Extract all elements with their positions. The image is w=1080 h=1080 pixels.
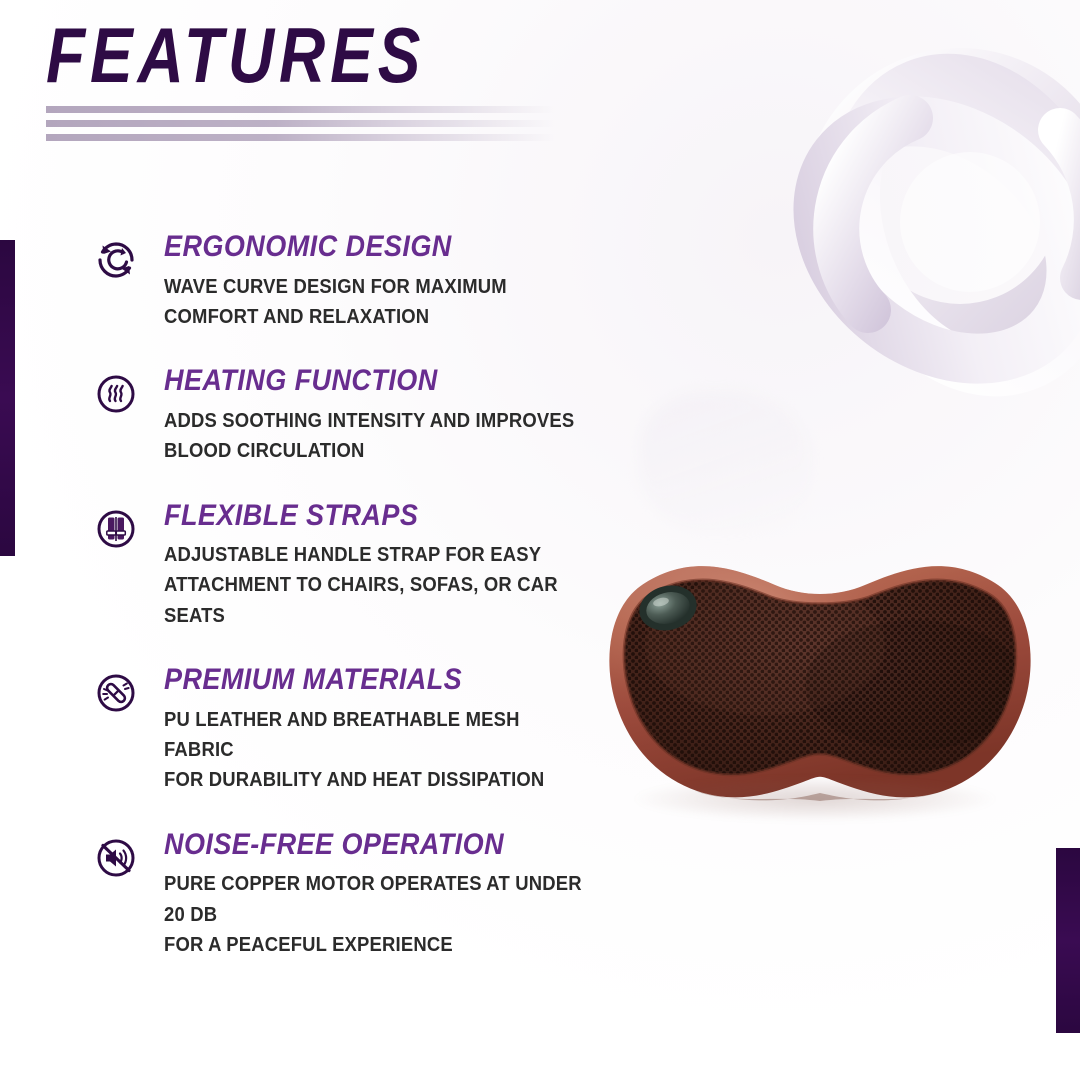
feature-item: FLEXIBLE STRAPS ADJUSTABLE HANDLE STRAP …	[92, 501, 637, 632]
feature-description: ADDS SOOTHING INTENSITY AND IMPROVES BLO…	[164, 406, 590, 467]
right-accent-bar	[1056, 848, 1080, 1033]
title-underline-rules	[46, 106, 556, 141]
rule-line-3	[46, 134, 556, 141]
feature-list: ERGONOMIC DESIGN WAVE CURVE DESIGN FOR M…	[92, 232, 637, 994]
left-accent-bar	[0, 240, 15, 556]
straps-buckle-circle-icon	[92, 505, 140, 553]
product-drop-shadow	[635, 777, 995, 821]
rotate-arrows-icon	[92, 236, 140, 284]
abstract-torus-knot-decoration	[760, 10, 1080, 440]
product-image-shiatsu-massage-pillow	[575, 505, 1065, 855]
feature-description: PURE COPPER MOTOR OPERATES AT UNDER 20 D…	[164, 869, 590, 960]
feature-title: FLEXIBLE STRAPS	[164, 501, 590, 532]
feature-item: NOISE-FREE OPERATION PURE COPPER MOTOR O…	[92, 830, 637, 961]
rule-line-1	[46, 106, 556, 113]
feature-title: NOISE-FREE OPERATION	[164, 830, 590, 861]
feature-title: ERGONOMIC DESIGN	[164, 232, 590, 263]
muted-speaker-icon	[92, 834, 140, 882]
feature-description: PU LEATHER AND BREATHABLE MESH FABRIC FO…	[164, 705, 590, 796]
heat-waves-circle-icon	[92, 370, 140, 418]
bandage-circle-icon	[92, 669, 140, 717]
feature-description: ADJUSTABLE HANDLE STRAP FOR EASY ATTACHM…	[164, 540, 590, 631]
rule-line-2	[46, 120, 556, 127]
feature-title: HEATING FUNCTION	[164, 366, 590, 397]
infographic-canvas: FEATURES ERGONOM	[0, 0, 1080, 1080]
feature-item: HEATING FUNCTION ADDS SOOTHING INTENSITY…	[92, 366, 637, 466]
title-block: FEATURES	[46, 18, 646, 148]
page-title: FEATURES	[46, 18, 538, 92]
feature-item: PREMIUM MATERIALS PU LEATHER AND BREATHA…	[92, 665, 637, 796]
feature-description: WAVE CURVE DESIGN FOR MAXIMUM COMFORT AN…	[164, 272, 590, 333]
feature-item: ERGONOMIC DESIGN WAVE CURVE DESIGN FOR M…	[92, 232, 637, 332]
feature-title: PREMIUM MATERIALS	[164, 665, 590, 696]
